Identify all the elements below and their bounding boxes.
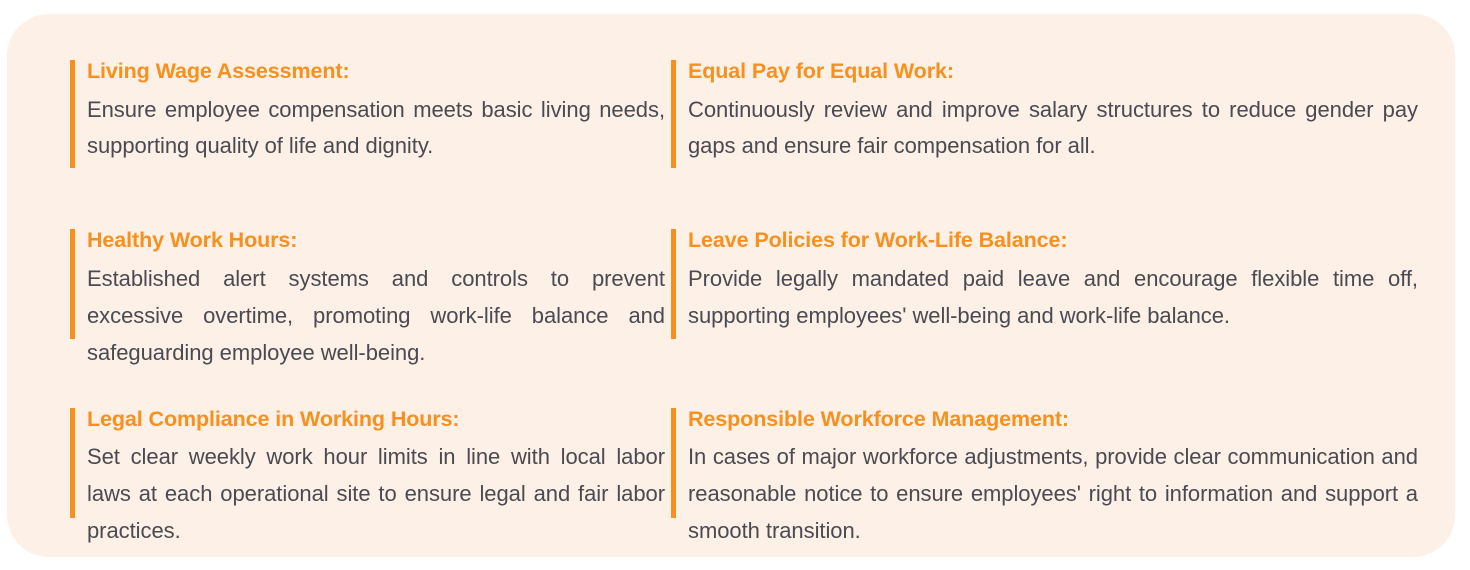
accent-bar — [671, 229, 676, 339]
commitment-heading: Equal Pay for Equal Work: — [688, 58, 1405, 86]
commitment-item-equal-pay-for-equal-work: Equal Pay for Equal Work: Continuously r… — [665, 44, 1405, 221]
commitment-body: Provide legally mandated paid leave and … — [688, 261, 1418, 335]
accent-bar — [671, 408, 676, 518]
commitment-item-leave-policies-for-work-life-balance: Leave Policies for Work-Life Balance: Pr… — [665, 221, 1405, 399]
commitment-heading: Healthy Work Hours: — [87, 227, 664, 255]
commitment-heading: Leave Policies for Work-Life Balance: — [688, 227, 1405, 255]
commitment-heading: Responsible Workforce Management: — [688, 406, 1405, 434]
commitment-body: Ensure employee compensation meets basic… — [87, 92, 665, 166]
commitment-item-healthy-work-hours: Healthy Work Hours: Established alert sy… — [64, 221, 664, 399]
commitment-item-legal-compliance-in-working-hours: Legal Compliance in Working Hours: Set c… — [64, 400, 664, 560]
commitment-item-living-wage-assessment: Living Wage Assessment: Ensure employee … — [64, 44, 664, 221]
accent-bar — [70, 408, 75, 518]
accent-bar — [70, 229, 75, 339]
commitment-body: Established alert systems and controls t… — [87, 261, 665, 372]
info-panel-card: Living Wage Assessment: Ensure employee … — [7, 14, 1455, 557]
commitment-heading: Legal Compliance in Working Hours: — [87, 406, 664, 434]
commitment-item-responsible-workforce-management: Responsible Workforce Management: In cas… — [665, 400, 1405, 560]
commitment-body: Set clear weekly work hour limits in lin… — [87, 439, 665, 550]
commitment-body: In cases of major workforce adjustments,… — [688, 439, 1418, 550]
accent-bar — [671, 60, 676, 168]
commitment-body: Continuously review and improve salary s… — [688, 92, 1418, 166]
accent-bar — [70, 60, 75, 168]
commitment-heading: Living Wage Assessment: — [87, 58, 664, 86]
commitments-grid: Living Wage Assessment: Ensure employee … — [64, 44, 1404, 560]
